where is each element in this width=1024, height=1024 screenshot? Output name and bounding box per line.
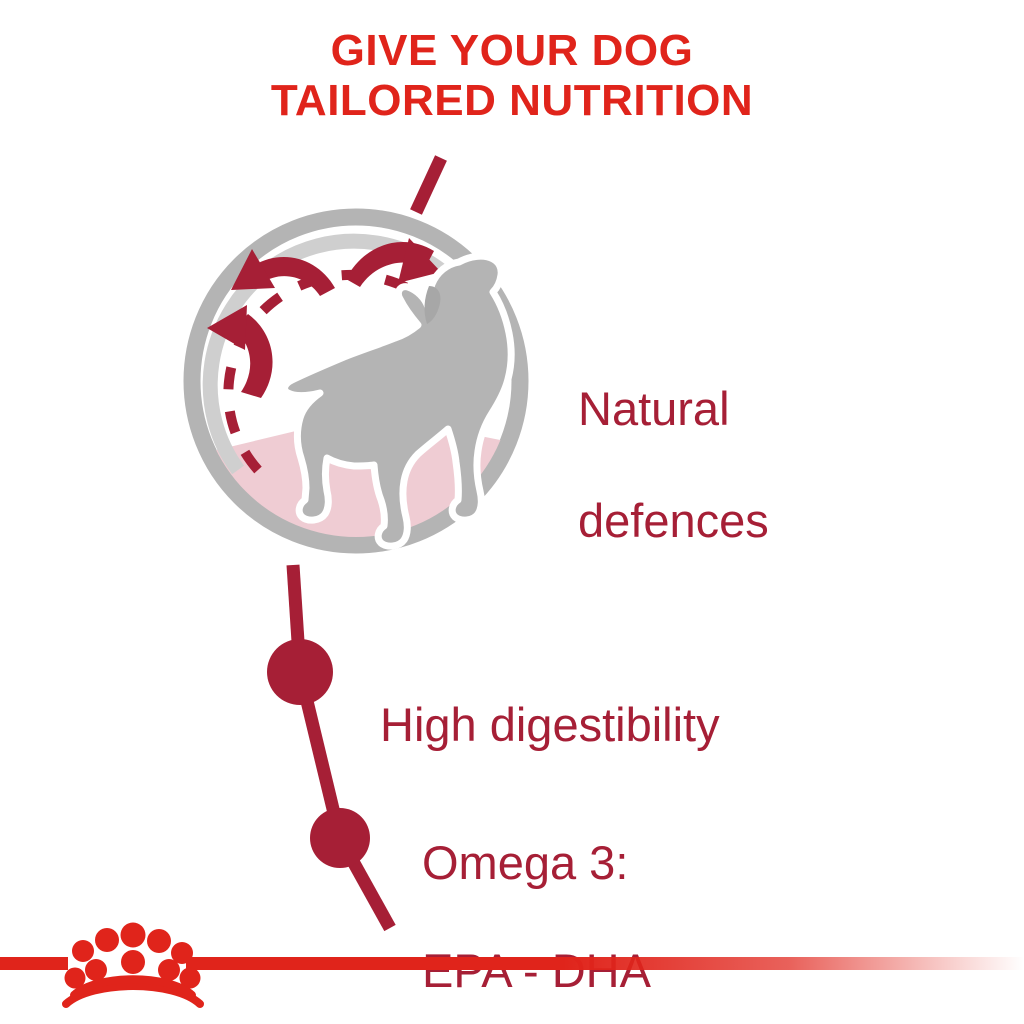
feature-line-1: High digestibility [380, 698, 720, 751]
royal-canin-crown-logo [65, 923, 201, 1005]
connector-dot-high-digestibility [267, 639, 333, 705]
crown-dot-mid-1 [85, 959, 107, 981]
crown-dot-mid-3 [158, 959, 180, 981]
feature-line-2: defences [578, 494, 769, 547]
defence-arrow-2 [231, 249, 335, 296]
defence-arrow-1 [207, 305, 273, 398]
feature-line-1: Natural [578, 382, 730, 435]
emblem-ground-shape [196, 426, 524, 632]
feature-label-natural-defences: Natural defences [578, 325, 769, 549]
page-title: GIVE YOUR DOG TAILORED NUTRITION [0, 26, 1024, 126]
defence-arrow-3 [346, 238, 441, 287]
dog-silhouette-icon [285, 256, 512, 546]
emblem-ring-circle [192, 217, 520, 545]
connector-top-tick [416, 158, 441, 212]
connector-path [267, 565, 390, 928]
footer-rule-left [0, 957, 68, 970]
crown-dot-mid-2 [121, 950, 145, 974]
crown-dot-top-2 [95, 928, 119, 952]
crown-dot-top-3 [121, 923, 146, 948]
promo-canvas: GIVE YOUR DOG TAILORED NUTRITION [0, 0, 1024, 1024]
connector-segment-2 [300, 672, 340, 838]
connector-dot-omega-3 [310, 808, 370, 868]
emblem-inner-arc [210, 241, 470, 470]
footer [0, 900, 1024, 1024]
footer-rule-right [186, 957, 1024, 970]
headline-line-1: GIVE YOUR DOG [0, 26, 1024, 76]
footer-graphics [0, 900, 1024, 1024]
feature-label-high-digestibility: High digestibility [380, 644, 720, 752]
headline-line-2: TAILORED NUTRITION [0, 76, 1024, 126]
crown-dot-top-4 [147, 929, 171, 953]
emblem-dashed-shield-arc [228, 275, 444, 470]
emblem-defence-arrows [207, 238, 441, 398]
feature-line-1: Omega 3: [422, 836, 628, 889]
connector-segment-1 [293, 565, 300, 672]
crown-dot-top-1 [72, 940, 94, 962]
